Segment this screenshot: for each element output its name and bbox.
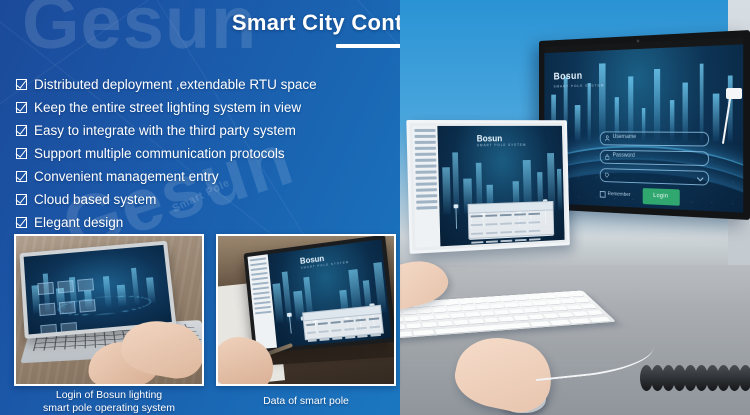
- photo-1-caption-line1: Login of Bosun lighting: [14, 389, 204, 402]
- list-item-label: Support multiple communication protocols: [34, 147, 285, 161]
- checked-box-icon: [16, 148, 27, 159]
- power-plug: [726, 88, 742, 99]
- list-item-label: Convenient management entry: [34, 170, 219, 184]
- checked-box-icon: [16, 125, 27, 136]
- checked-box-icon: [16, 79, 27, 90]
- list-item: Support multiple communication protocols: [16, 145, 416, 162]
- coiled-cable: [634, 357, 750, 391]
- dashboard-logo-text: Bosun: [477, 134, 503, 144]
- photo-2-caption: Data of smart pole: [216, 395, 396, 408]
- tablet-data-photo: tablet-data-photo Bosun SMART POLE SYSTE…: [216, 234, 396, 386]
- laptop-login-photo: [14, 234, 204, 386]
- monitor-device: Bosun SMART POLE SYSTEM Username: [539, 30, 750, 220]
- photo-1-caption-line2: smart pole operating system: [14, 402, 204, 415]
- slide-root: Gesun Gesun Gesun Gesun Smart Pole Smart…: [0, 0, 750, 415]
- dashboard-3d-view: tablet-data-photo Bosun SMART POLE SYSTE…: [268, 239, 392, 347]
- photo-1-caption: Login of Bosun lighting smart pole opera…: [14, 389, 204, 415]
- dashboard-monitor-screen: Bosun SMART POLE SYSTEM: [412, 126, 564, 248]
- list-item-label: Keep the entire street lighting system i…: [34, 101, 301, 115]
- list-item: Easy to integrate with the third party s…: [16, 122, 416, 139]
- dashboard-monitor-device: Bosun SMART POLE SYSTEM: [406, 120, 570, 254]
- checked-box-icon: [16, 171, 27, 182]
- list-item: Keep the entire street lighting system i…: [16, 99, 416, 116]
- desktop-monitor-photo: Bosun SMART POLE SYSTEM Username: [400, 0, 750, 415]
- dashboard-logo-subtitle: SMART POLE SYSTEM: [477, 143, 527, 147]
- list-item-label: Elegant design: [34, 216, 123, 230]
- list-item-label: Cloud based system: [34, 193, 156, 207]
- feature-list: Distributed deployment ,extendable RTU s…: [16, 76, 416, 237]
- list-item: Elegant design: [16, 214, 416, 231]
- list-item-label: Distributed deployment ,extendable RTU s…: [34, 78, 317, 92]
- monitor-bezel: [539, 30, 750, 220]
- dashboard-3d-view: Bosun SMART POLE SYSTEM: [437, 126, 564, 246]
- tablet-device: tablet-data-photo Bosun SMART POLE SYSTE…: [244, 235, 396, 354]
- tablet-screen: tablet-data-photo Bosun SMART POLE SYSTE…: [248, 239, 392, 349]
- list-item-label: Easy to integrate with the third party s…: [34, 124, 296, 138]
- dashboard-data-table: [468, 201, 554, 239]
- checked-box-icon: [16, 102, 27, 113]
- list-item: Cloud based system: [16, 191, 416, 208]
- checked-box-icon: [16, 194, 27, 205]
- dashboard-logo: Bosun SMART POLE SYSTEM: [477, 133, 527, 147]
- list-item: Convenient management entry: [16, 168, 416, 185]
- checked-box-icon: [16, 217, 27, 228]
- list-item: Distributed deployment ,extendable RTU s…: [16, 76, 416, 93]
